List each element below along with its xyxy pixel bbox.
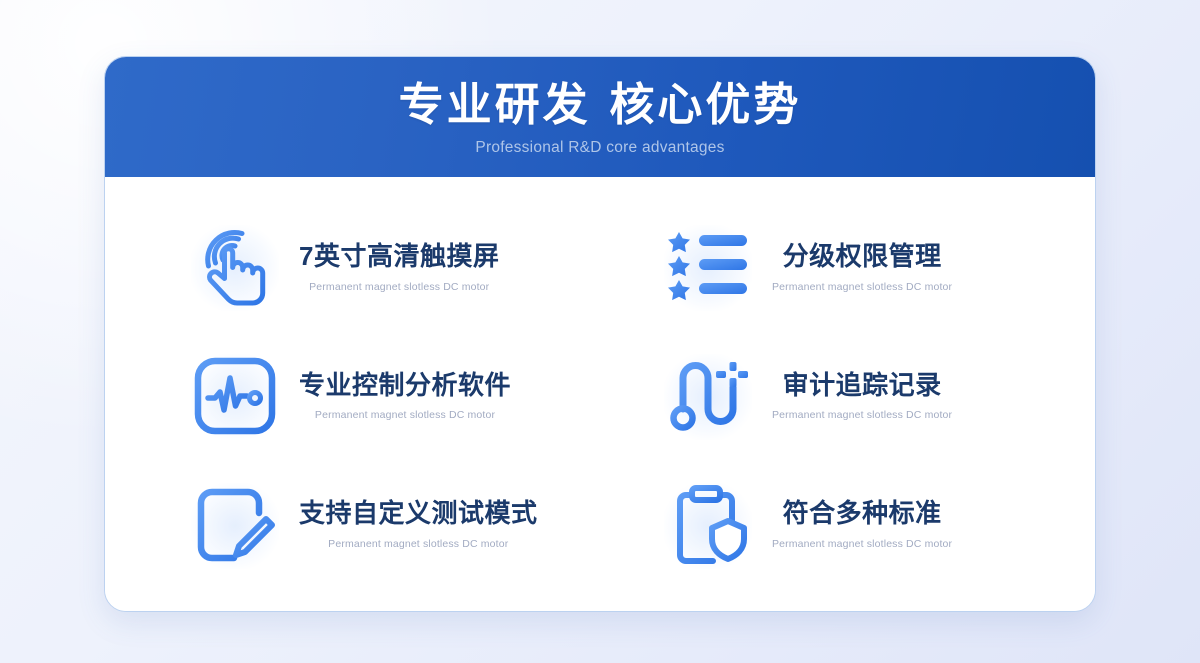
features-grid: 7英寸高清触摸屏 Permanent magnet slotless DC mo… bbox=[105, 177, 1095, 611]
feature-subtitle: Permanent magnet slotless DC motor bbox=[309, 281, 489, 293]
feature-title: 审计追踪记录 bbox=[783, 371, 942, 401]
feature-title: 符合多种标准 bbox=[783, 499, 942, 529]
feature-item-audit-trail[interactable]: 审计追踪记录 Permanent magnet slotless DC moto… bbox=[600, 332, 1061, 461]
feature-item-permission-levels[interactable]: 分级权限管理 Permanent magnet slotless DC moto… bbox=[600, 203, 1061, 332]
feature-text: 7英寸高清触摸屏 Permanent magnet slotless DC mo… bbox=[299, 242, 499, 293]
clipboard-shield-icon bbox=[658, 475, 758, 575]
feature-subtitle: Permanent magnet slotless DC motor bbox=[772, 409, 952, 421]
waveform-monitor-icon bbox=[185, 346, 285, 446]
feature-text: 分级权限管理 Permanent magnet slotless DC moto… bbox=[772, 242, 952, 293]
touch-screen-icon bbox=[185, 217, 285, 317]
feature-subtitle: Permanent magnet slotless DC motor bbox=[772, 281, 952, 293]
feature-item-custom-test-mode[interactable]: 支持自定义测试模式 Permanent magnet slotless DC m… bbox=[139, 460, 600, 589]
advantages-card: 专业研发 核心优势 Professional R&D core advantag… bbox=[104, 56, 1096, 612]
audit-trail-icon bbox=[658, 346, 758, 446]
feature-text: 专业控制分析软件 Permanent magnet slotless DC mo… bbox=[299, 371, 511, 422]
document-edit-icon bbox=[185, 475, 285, 575]
feature-text: 符合多种标准 Permanent magnet slotless DC moto… bbox=[772, 499, 952, 550]
feature-subtitle: Permanent magnet slotless DC motor bbox=[328, 538, 508, 550]
feature-item-standards-compliance[interactable]: 符合多种标准 Permanent magnet slotless DC moto… bbox=[600, 460, 1061, 589]
feature-subtitle: Permanent magnet slotless DC motor bbox=[772, 538, 952, 550]
feature-item-touch-screen[interactable]: 7英寸高清触摸屏 Permanent magnet slotless DC mo… bbox=[139, 203, 600, 332]
feature-title: 分级权限管理 bbox=[783, 242, 942, 272]
page-title: 专业研发 核心优势 bbox=[399, 82, 802, 127]
feature-title: 7英寸高清触摸屏 bbox=[299, 242, 499, 272]
feature-title: 支持自定义测试模式 bbox=[299, 499, 538, 529]
feature-text: 审计追踪记录 Permanent magnet slotless DC moto… bbox=[772, 371, 952, 422]
card-header: 专业研发 核心优势 Professional R&D core advantag… bbox=[105, 57, 1095, 177]
feature-item-control-software[interactable]: 专业控制分析软件 Permanent magnet slotless DC mo… bbox=[139, 332, 600, 461]
feature-title: 专业控制分析软件 bbox=[299, 371, 511, 401]
feature-subtitle: Permanent magnet slotless DC motor bbox=[315, 409, 495, 421]
star-list-icon bbox=[658, 217, 758, 317]
feature-text: 支持自定义测试模式 Permanent magnet slotless DC m… bbox=[299, 499, 538, 550]
page-subtitle: Professional R&D core advantages bbox=[475, 139, 724, 157]
